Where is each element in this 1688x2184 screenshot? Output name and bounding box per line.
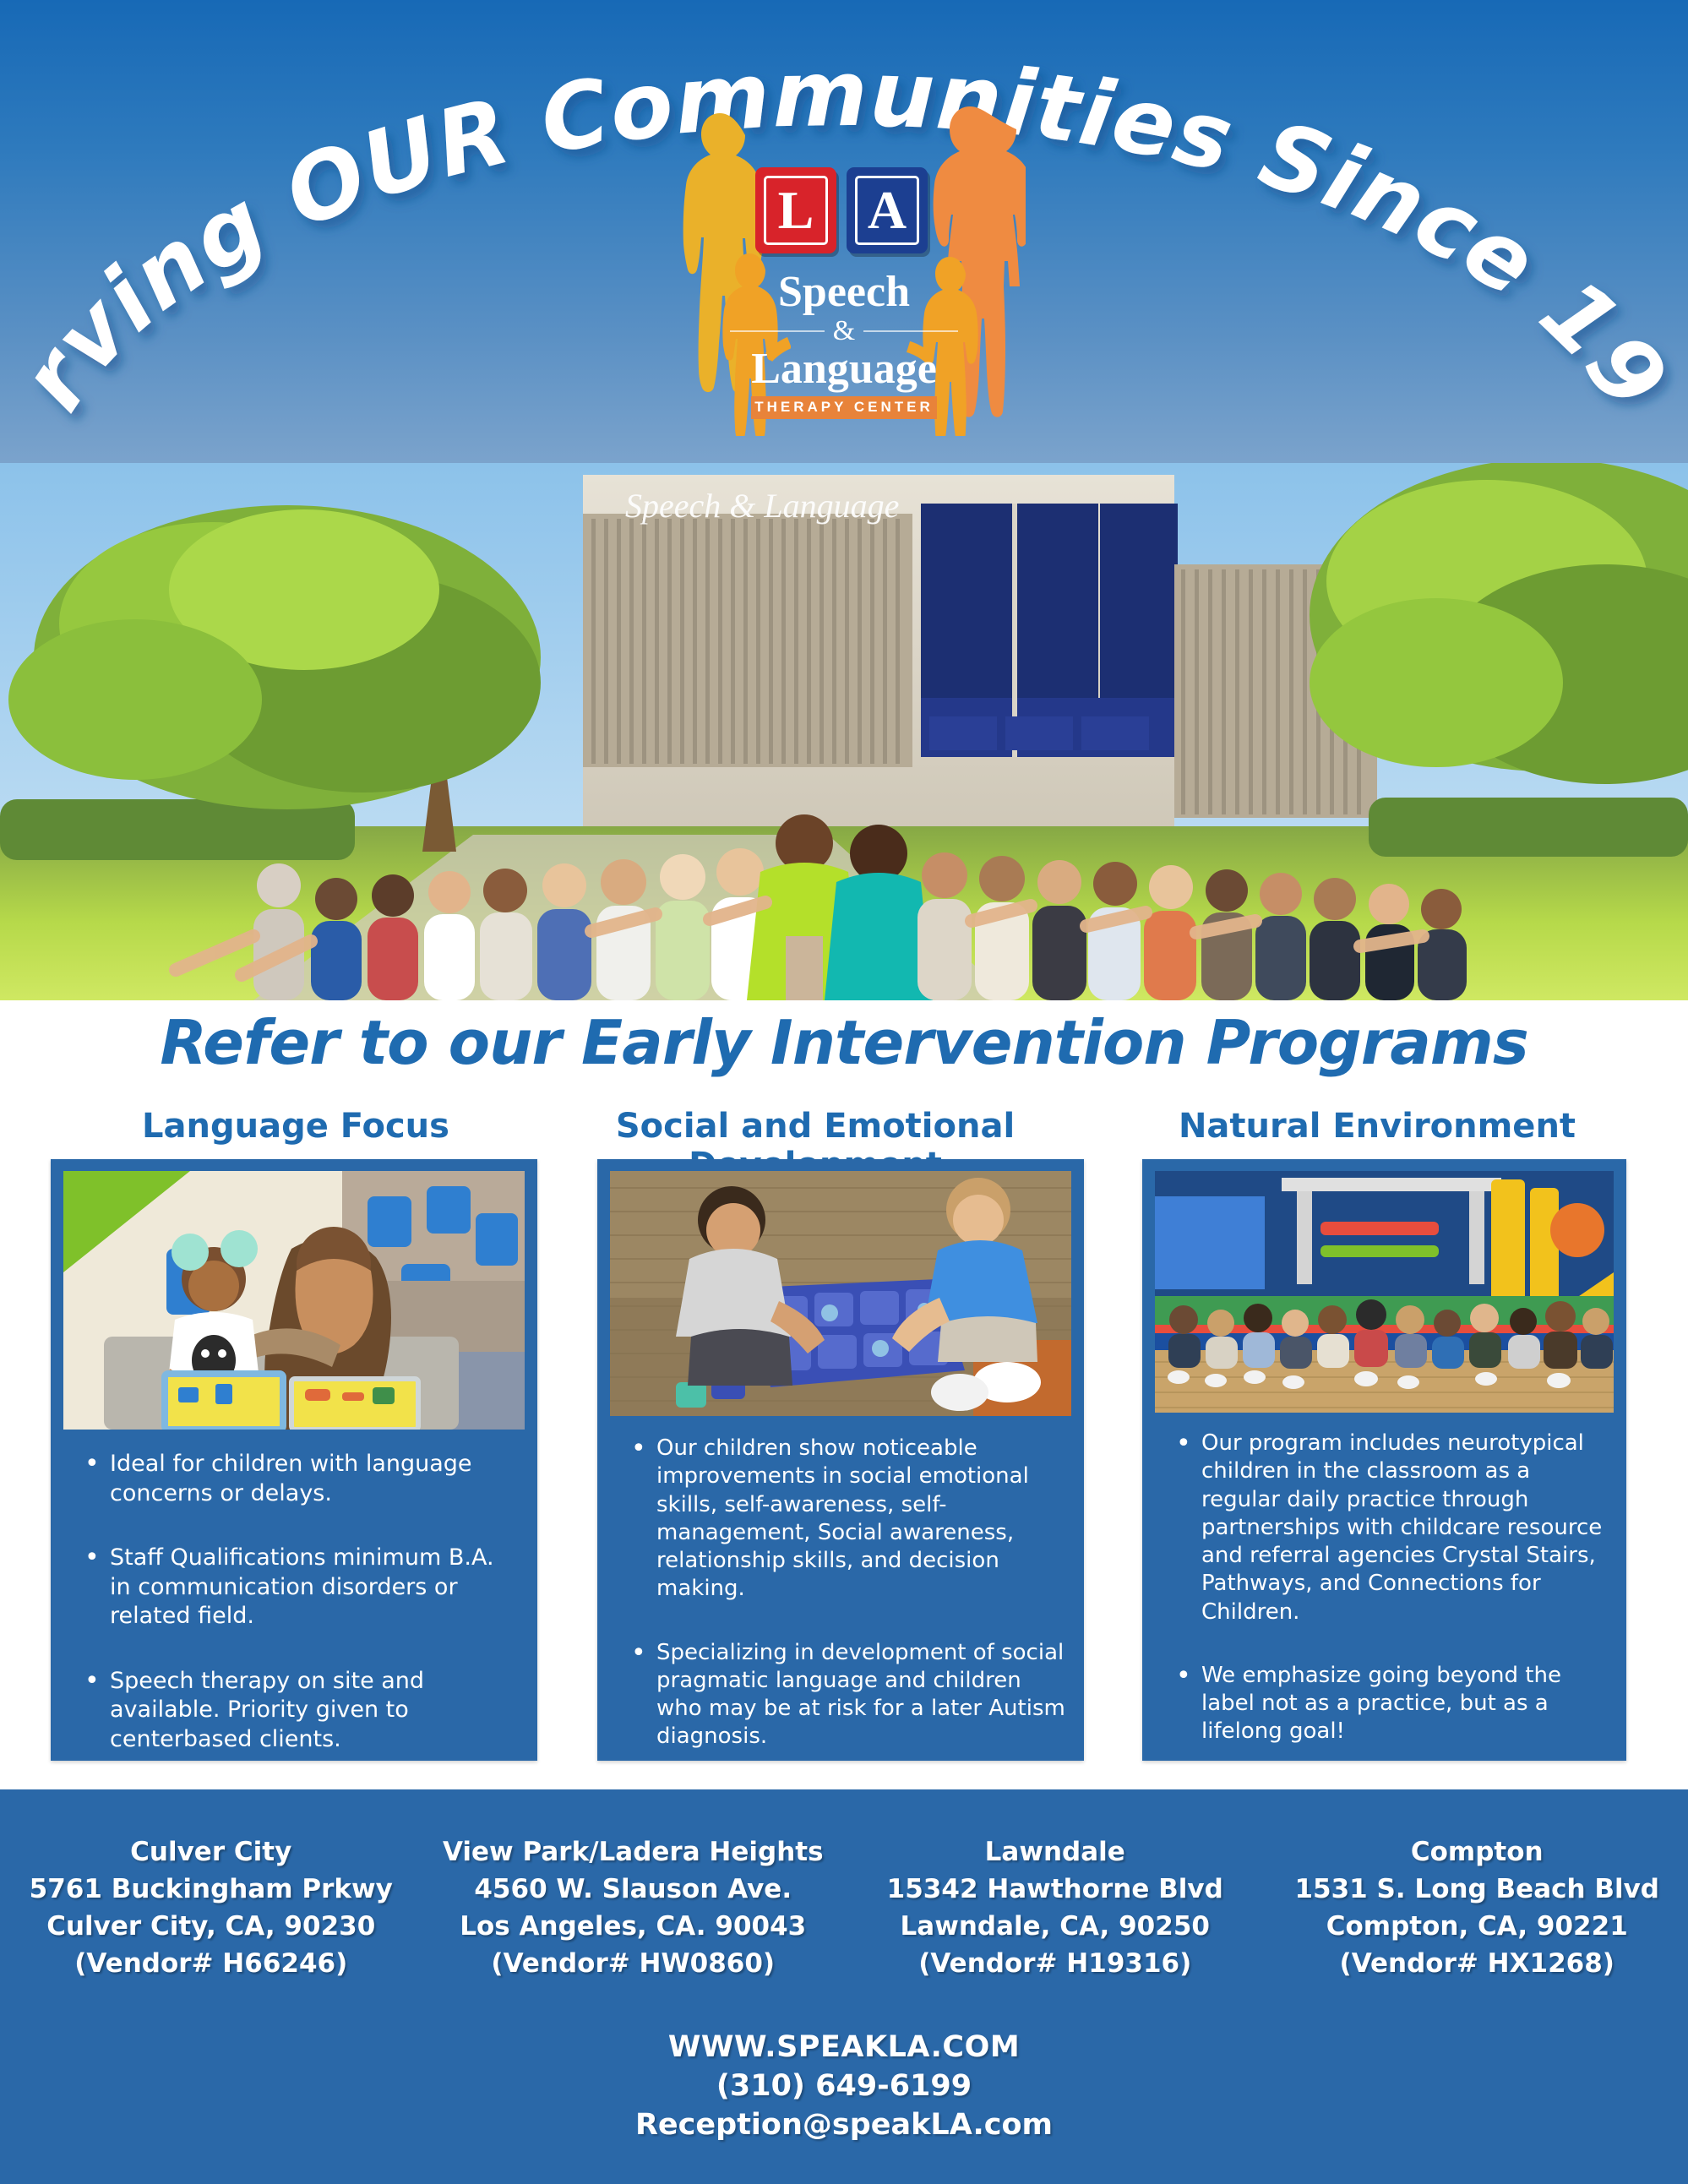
- building-wall-sign: Speech & Language: [625, 487, 899, 525]
- logo-word-language: Language: [730, 346, 958, 393]
- location-citystatezip: Culver City, CA, 90230: [7, 1908, 416, 1945]
- header-banner: Serving OUR Communities Since 1979: [0, 0, 1688, 463]
- list-item: Our program includes neurotypical childr…: [1173, 1430, 1609, 1626]
- location-street: 1531 S. Long Beach Blvd: [1273, 1871, 1682, 1908]
- location-street: 5761 Buckingham Prkwy: [7, 1871, 416, 1908]
- location-city: Compton: [1273, 1833, 1682, 1871]
- contact-block: WWW.SPEAKLA.COM (310) 649-6199 Reception…: [0, 2028, 1688, 2145]
- location-citystatezip: Los Angeles, CA. 90043: [429, 1908, 838, 1945]
- phone-number[interactable]: (310) 649-6199: [0, 2067, 1688, 2105]
- card-bullets-language-focus: Ideal for children with language concern…: [81, 1450, 520, 1754]
- location-vendor-number: (Vendor# H19316): [851, 1945, 1260, 1982]
- list-item: Specializing in development of social pr…: [628, 1639, 1067, 1751]
- logo-blocks: L A: [755, 167, 933, 260]
- company-logo: L A Speech & Language THERAPY CENTER: [662, 101, 1026, 439]
- location-citystatezip: Compton, CA, 90221: [1273, 1908, 1682, 1945]
- website-link[interactable]: WWW.SPEAKLA.COM: [0, 2028, 1688, 2067]
- card-photo-social-emotional: [610, 1171, 1071, 1416]
- list-item: Staff Qualifications minimum B.A. in com…: [81, 1544, 520, 1631]
- logo-rule-right: [863, 330, 958, 332]
- program-card-social-emotional: Our children show noticeable improvement…: [597, 1159, 1084, 1761]
- program-card-language-focus: Ideal for children with language concern…: [51, 1159, 537, 1761]
- card-photo-language-focus: [63, 1171, 525, 1430]
- card-photo-natural-environment: [1155, 1171, 1614, 1413]
- logo-block-a: A: [847, 167, 928, 253]
- location-vendor-number: (Vendor# HX1268): [1273, 1945, 1682, 1982]
- logo-block-l: L: [755, 167, 836, 253]
- logo-block-l-letter: L: [778, 183, 814, 237]
- location-citystatezip: Lawndale, CA, 90250: [851, 1908, 1260, 1945]
- column-title-language-focus: Language Focus: [51, 1107, 541, 1146]
- logo-block-a-letter: A: [868, 183, 907, 237]
- email-link[interactable]: Reception@speakLA.com: [0, 2105, 1688, 2144]
- card-bullets-social-emotional: Our children show noticeable improvement…: [628, 1435, 1067, 1751]
- list-item: Speech therapy on site and available. Pr…: [81, 1667, 520, 1755]
- list-item: We emphasize going beyond the label not …: [1173, 1662, 1609, 1746]
- program-card-natural-environment: Our program includes neurotypical childr…: [1142, 1159, 1626, 1761]
- location-vendor-number: (Vendor# HW0860): [429, 1945, 838, 1982]
- hero-group-photo: Speech & Language 5761: [0, 463, 1688, 1000]
- locations-row: Culver City 5761 Buckingham Prkwy Culver…: [0, 1833, 1688, 1982]
- location-vendor-number: (Vendor# H66246): [7, 1945, 416, 1982]
- logo-word-speech: Speech: [730, 270, 958, 314]
- logo-word-therapy-center: THERAPY CENTER: [751, 396, 937, 419]
- logo-rule-left: [730, 330, 825, 332]
- logo-wordmark: Speech & Language THERAPY CENTER: [730, 270, 958, 419]
- list-item: Ideal for children with language concern…: [81, 1450, 520, 1508]
- list-item: Our children show noticeable improvement…: [628, 1435, 1067, 1604]
- location-street: 4560 W. Slauson Ave.: [429, 1871, 838, 1908]
- logo-word-amp: &: [833, 317, 855, 346]
- hero-photo-illustration: Speech & Language 5761: [0, 463, 1688, 1000]
- location-lawndale: Lawndale 15342 Hawthorne Blvd Lawndale, …: [844, 1833, 1266, 1982]
- location-city: Lawndale: [851, 1833, 1260, 1871]
- location-compton: Compton 1531 S. Long Beach Blvd Compton,…: [1266, 1833, 1688, 1982]
- page-title: Refer to our Early Intervention Programs: [0, 1007, 1688, 1078]
- location-view-park-ladera-heights: View Park/Ladera Heights 4560 W. Slauson…: [422, 1833, 845, 1982]
- location-city: View Park/Ladera Heights: [429, 1833, 838, 1871]
- logo-amp-row: &: [730, 317, 958, 346]
- location-city: Culver City: [7, 1833, 416, 1871]
- location-street: 15342 Hawthorne Blvd: [851, 1871, 1260, 1908]
- column-title-natural-environment: Natural Environment: [1124, 1107, 1631, 1146]
- card-bullets-natural-environment: Our program includes neurotypical childr…: [1173, 1430, 1609, 1746]
- location-culver-city: Culver City 5761 Buckingham Prkwy Culver…: [0, 1833, 422, 1982]
